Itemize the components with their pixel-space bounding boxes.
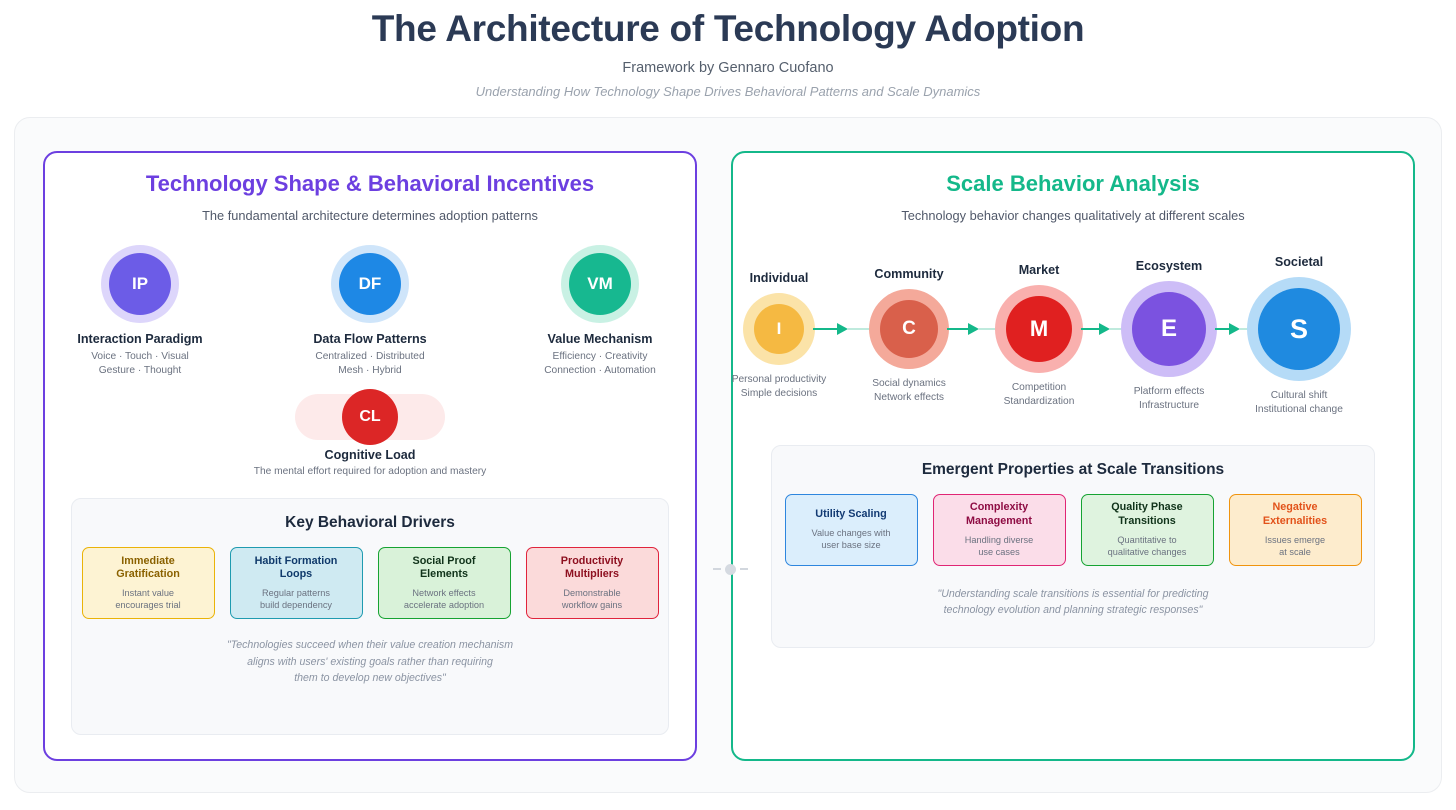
cognitive-load-name: Cognitive Load bbox=[45, 448, 695, 462]
scale-node-halo: M bbox=[995, 285, 1083, 373]
card-desc: Value changes withuser base size bbox=[812, 527, 891, 552]
left-quote-line-2: aligns with users' existing goals rather… bbox=[118, 654, 622, 670]
panel-technology-shape: Technology Shape & Behavioral Incentives… bbox=[43, 151, 697, 761]
shape-item-ip: IPInteraction ParadigmVoice · Touch · Vi… bbox=[65, 245, 215, 378]
card-title: Social ProofElements bbox=[413, 555, 476, 582]
card-desc: Network effectsaccelerate adoption bbox=[404, 587, 484, 612]
connector-dash-right bbox=[740, 568, 748, 570]
right-quote-line-2: technology evolution and planning strate… bbox=[818, 602, 1328, 618]
driver-card-row: ImmediateGratificationInstant valueencou… bbox=[72, 547, 668, 619]
scale-node-circle: M bbox=[1006, 296, 1072, 362]
scale-node-halo: C bbox=[869, 289, 949, 369]
scale-node-halo: I bbox=[743, 293, 815, 365]
page-title: The Architecture of Technology Adoption bbox=[0, 6, 1456, 52]
right-quote: "Understanding scale transitions is esse… bbox=[772, 586, 1374, 619]
page-subtitle: Framework by Gennaro Cuofano bbox=[0, 60, 1456, 76]
arrow-tail bbox=[848, 328, 871, 330]
cognitive-load-pill: CL bbox=[295, 394, 445, 440]
shape-halo: VM bbox=[561, 245, 639, 323]
right-quote-line-1: "Understanding scale transitions is esse… bbox=[818, 586, 1328, 602]
cognitive-load-block: CL Cognitive Load The mental effort requ… bbox=[45, 394, 695, 477]
left-panel-subtitle: The fundamental architecture determines … bbox=[45, 208, 695, 223]
arrow-head-icon bbox=[968, 323, 979, 335]
page-header: The Architecture of Technology Adoption … bbox=[0, 0, 1456, 99]
shape-name: Data Flow Patterns bbox=[295, 332, 445, 346]
card-desc: Handling diverseuse cases bbox=[965, 534, 1033, 559]
arrow-line bbox=[947, 328, 968, 330]
diagram-container: Technology Shape & Behavioral Incentives… bbox=[14, 117, 1442, 793]
scale-node-desc: Cultural shiftInstitutional change bbox=[1214, 389, 1384, 418]
arrow-line bbox=[1215, 328, 1229, 330]
left-quote: "Technologies succeed when their value c… bbox=[72, 637, 668, 686]
emergent-properties-box: Emergent Properties at Scale Transitions… bbox=[771, 445, 1375, 648]
card-desc: Demonstrableworkflow gains bbox=[562, 587, 622, 612]
page-tagline: Understanding How Technology Shape Drive… bbox=[0, 84, 1456, 99]
driver-card[interactable]: Social ProofElementsNetwork effectsaccel… bbox=[378, 547, 511, 619]
scale-node-halo: S bbox=[1247, 277, 1351, 381]
shape-halo: IP bbox=[101, 245, 179, 323]
panel-scale-behavior: Scale Behavior Analysis Technology behav… bbox=[731, 151, 1415, 761]
scale-chain: IndividualIPersonal productivitySimple d… bbox=[733, 241, 1413, 431]
card-desc: Instant valueencourages trial bbox=[115, 587, 180, 612]
arrow-line bbox=[813, 328, 837, 330]
shape-halo: DF bbox=[331, 245, 409, 323]
emergent-card[interactable]: ComplexityManagementHandling diverseuse … bbox=[933, 494, 1066, 566]
shape-item-vm: VMValue MechanismEfficiency · Creativity… bbox=[525, 245, 675, 378]
scale-node-circle: I bbox=[754, 304, 804, 354]
shape-name: Interaction Paradigm bbox=[65, 332, 215, 346]
shape-desc: Voice · Touch · VisualGesture · Thought bbox=[65, 350, 215, 378]
card-desc: Issues emergeat scale bbox=[1265, 534, 1325, 559]
card-title: Utility Scaling bbox=[815, 508, 886, 522]
key-behavioral-drivers-box: Key Behavioral Drivers ImmediateGratific… bbox=[71, 498, 669, 735]
connector-dot bbox=[725, 564, 736, 575]
card-title: NegativeExternalities bbox=[1263, 501, 1327, 528]
shape-desc: Centralized · DistributedMesh · Hybrid bbox=[295, 350, 445, 378]
card-desc: Regular patternsbuild dependency bbox=[260, 587, 332, 612]
cognitive-load-circle: CL bbox=[342, 389, 398, 445]
card-title: Habit FormationLoops bbox=[255, 555, 338, 582]
arrow-line bbox=[1081, 328, 1099, 330]
right-panel-subtitle: Technology behavior changes qualitativel… bbox=[733, 208, 1413, 223]
emergent-title: Emergent Properties at Scale Transitions bbox=[772, 446, 1374, 479]
emergent-card[interactable]: NegativeExternalitiesIssues emergeat sca… bbox=[1229, 494, 1362, 566]
shape-circle-row: IPInteraction ParadigmVoice · Touch · Vi… bbox=[45, 245, 695, 378]
emergent-card[interactable]: Utility ScalingValue changes withuser ba… bbox=[785, 494, 918, 566]
shape-circle: IP bbox=[109, 253, 171, 315]
driver-card[interactable]: ImmediateGratificationInstant valueencou… bbox=[82, 547, 215, 619]
scale-node-halo: E bbox=[1121, 281, 1217, 377]
card-title: ProductivityMultipliers bbox=[561, 555, 623, 582]
driver-card[interactable]: ProductivityMultipliersDemonstrableworkf… bbox=[526, 547, 659, 619]
connector-dash-left bbox=[713, 568, 721, 570]
scale-node-circle: E bbox=[1132, 292, 1206, 366]
card-title: ComplexityManagement bbox=[966, 501, 1032, 528]
card-title: Quality PhaseTransitions bbox=[1111, 501, 1182, 528]
arrow-head-icon bbox=[1099, 323, 1110, 335]
scale-node-circle: C bbox=[880, 300, 938, 358]
shape-circle: VM bbox=[569, 253, 631, 315]
left-panel-title: Technology Shape & Behavioral Incentives bbox=[45, 171, 695, 197]
drivers-title: Key Behavioral Drivers bbox=[72, 499, 668, 532]
driver-card[interactable]: Habit FormationLoopsRegular patternsbuil… bbox=[230, 547, 363, 619]
panel-connector bbox=[701, 563, 759, 575]
arrow-head-icon bbox=[837, 323, 848, 335]
scale-node-label: Societal bbox=[1219, 255, 1379, 269]
shape-item-df: DFData Flow PatternsCentralized · Distri… bbox=[295, 245, 445, 378]
arrow-head-icon bbox=[1229, 323, 1240, 335]
scale-arrow bbox=[947, 323, 997, 335]
card-title: ImmediateGratification bbox=[116, 555, 180, 582]
shape-name: Value Mechanism bbox=[525, 332, 675, 346]
left-quote-line-3: them to develop new objectives" bbox=[118, 670, 622, 686]
scale-arrow bbox=[813, 323, 871, 335]
scale-arrow bbox=[1215, 323, 1249, 335]
scale-node-circle: S bbox=[1258, 288, 1340, 370]
shape-circle: DF bbox=[339, 253, 401, 315]
right-panel-title: Scale Behavior Analysis bbox=[733, 171, 1413, 197]
shape-desc: Efficiency · CreativityConnection · Auto… bbox=[525, 350, 675, 378]
scale-arrow bbox=[1081, 323, 1123, 335]
card-desc: Quantitative toqualitative changes bbox=[1108, 534, 1187, 559]
cognitive-load-desc: The mental effort required for adoption … bbox=[45, 466, 695, 477]
emergent-card[interactable]: Quality PhaseTransitionsQuantitative toq… bbox=[1081, 494, 1214, 566]
emergent-card-row: Utility ScalingValue changes withuser ba… bbox=[772, 494, 1374, 566]
left-quote-line-1: "Technologies succeed when their value c… bbox=[118, 637, 622, 653]
